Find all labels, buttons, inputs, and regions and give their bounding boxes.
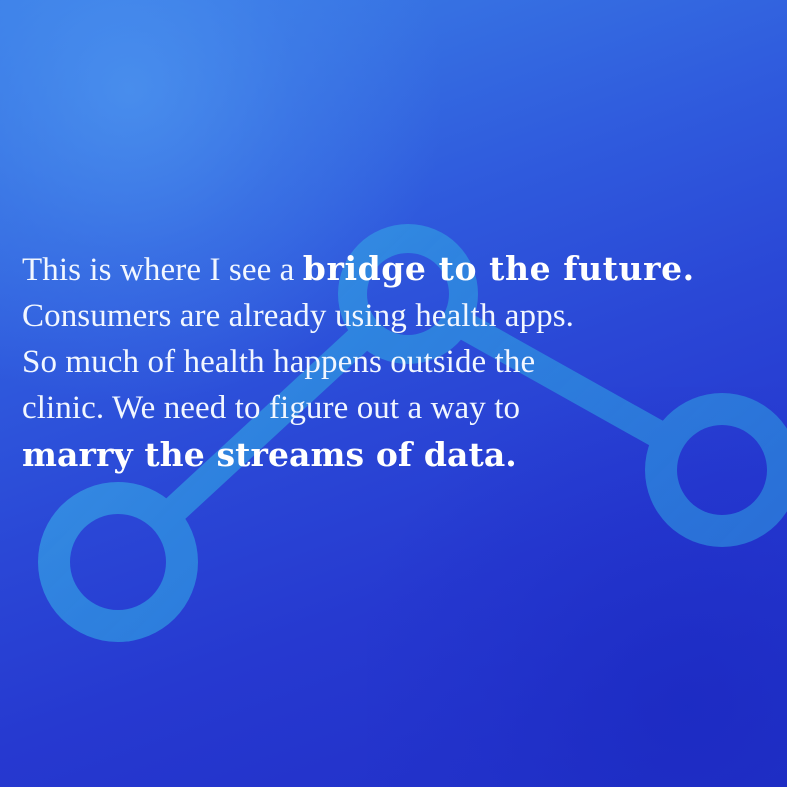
quote-segment-regular: clinic. We need to figure out a way to (22, 390, 520, 426)
quote-segment-regular: Consumers are already using health apps. (22, 298, 574, 334)
quote-segment-highlight: marry the streams of data. (22, 435, 517, 474)
quote-line-1: This is where I see a bridge to the futu… (22, 246, 787, 293)
quote-slide: This is where I see a bridge to the futu… (0, 0, 787, 787)
quote-line-3: So much of health happens outside the (22, 339, 787, 385)
quote-text-block: This is where I see a bridge to the futu… (22, 246, 787, 480)
quote-segment-regular: So much of health happens outside the (22, 344, 535, 380)
quote-line-2: Consumers are already using health apps. (22, 293, 787, 339)
quote-segment-highlight: bridge to the future. (303, 249, 695, 288)
quote-line-4: clinic. We need to figure out a way to (22, 385, 787, 431)
quote-line-5: marry the streams of data. (22, 431, 787, 480)
quote-segment-regular: This is where I see a (22, 252, 303, 288)
